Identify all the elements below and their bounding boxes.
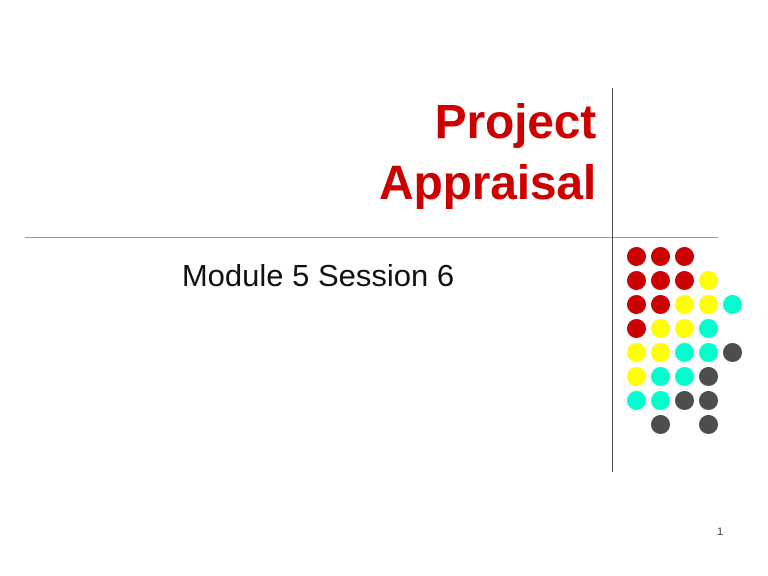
dot-gray bbox=[699, 391, 718, 410]
dot-cyan bbox=[651, 391, 670, 410]
dot-red bbox=[651, 271, 670, 290]
dot-cyan bbox=[651, 367, 670, 386]
dot-row bbox=[627, 391, 757, 415]
dot-gray bbox=[699, 367, 718, 386]
dot-yellow bbox=[699, 295, 718, 314]
dot-cyan bbox=[699, 319, 718, 338]
dot-red bbox=[651, 295, 670, 314]
dot-red bbox=[675, 271, 694, 290]
dot-matrix-decoration bbox=[627, 247, 757, 442]
slide-canvas: Project Appraisal Module 5 Session 6 1 bbox=[0, 0, 768, 576]
dot-cyan bbox=[723, 295, 742, 314]
dot-yellow bbox=[651, 319, 670, 338]
dot-row bbox=[627, 295, 757, 319]
dot-cyan bbox=[675, 367, 694, 386]
dot-gray bbox=[723, 343, 742, 362]
dot-red bbox=[675, 247, 694, 266]
dot-yellow bbox=[627, 367, 646, 386]
dot-yellow bbox=[675, 295, 694, 314]
dot-row bbox=[627, 319, 757, 343]
dot-red bbox=[627, 295, 646, 314]
dot-row bbox=[627, 247, 757, 271]
dot-red bbox=[627, 319, 646, 338]
page-number: 1 bbox=[700, 526, 740, 538]
dot-yellow bbox=[651, 343, 670, 362]
dot-row bbox=[627, 271, 757, 295]
dot-red bbox=[627, 271, 646, 290]
dot-gray bbox=[651, 415, 670, 434]
dot-row bbox=[627, 367, 757, 391]
dot-cyan bbox=[699, 343, 718, 362]
dot-gray bbox=[699, 415, 718, 434]
dot-cyan bbox=[627, 391, 646, 410]
dot-red bbox=[651, 247, 670, 266]
dot-yellow bbox=[627, 343, 646, 362]
page-subtitle: Module 5 Session 6 bbox=[40, 257, 596, 294]
vertical-divider bbox=[612, 88, 613, 472]
horizontal-divider bbox=[25, 237, 718, 238]
dot-yellow bbox=[699, 271, 718, 290]
title-line-1: Project bbox=[40, 92, 596, 153]
dot-gray bbox=[675, 391, 694, 410]
dot-cyan bbox=[675, 343, 694, 362]
title-line-2: Appraisal bbox=[40, 153, 596, 214]
dot-row bbox=[627, 343, 757, 367]
dot-red bbox=[627, 247, 646, 266]
page-title: Project Appraisal bbox=[40, 92, 596, 215]
dot-row bbox=[627, 415, 757, 439]
dot-yellow bbox=[675, 319, 694, 338]
